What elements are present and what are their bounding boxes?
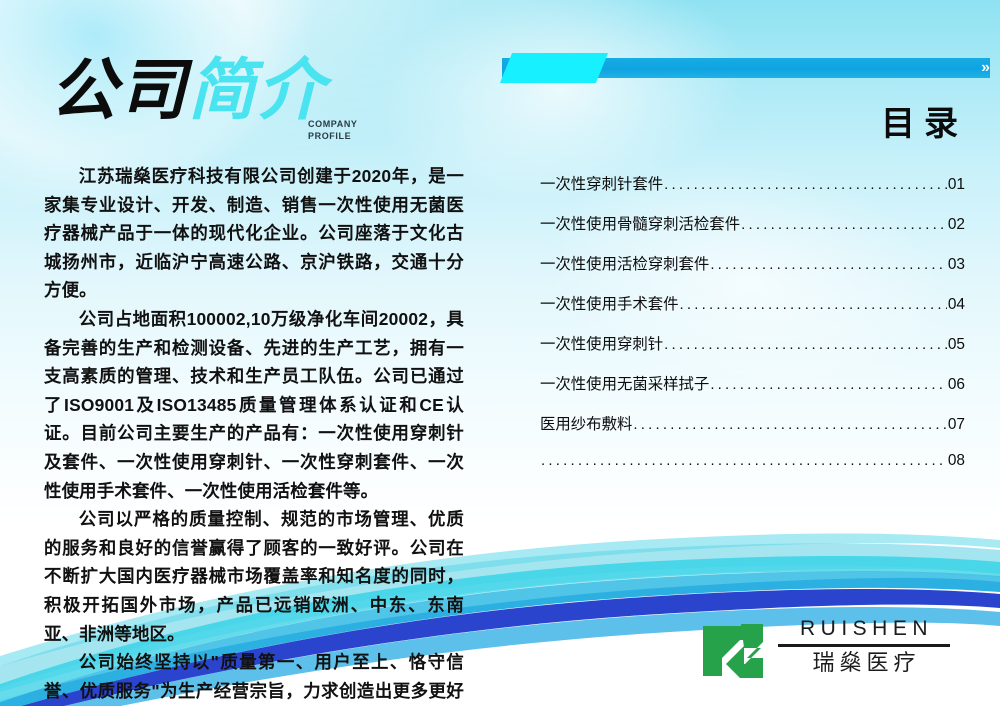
toc-entry-page: 04 <box>948 296 965 314</box>
toc-entry-label: 医用纱布敷料 <box>540 412 632 434</box>
toc-leader-dots: ........................................… <box>664 176 947 193</box>
double-chevron-right-icon: » <box>981 59 988 77</box>
toc-entry-label: 一次性使用手术套件 <box>540 292 679 314</box>
toc-entry[interactable]: 医用纱布敷料 .................................… <box>540 412 965 452</box>
toc-entry-page: 01 <box>948 176 965 194</box>
toc-entry-label: 一次性使用活检穿刺套件 <box>540 252 709 274</box>
toc-entry[interactable]: 一次性使用穿刺针 ...............................… <box>540 332 965 372</box>
toc-list: 一次性穿刺针套件 ...............................… <box>540 172 965 492</box>
toc-entry-label: 一次性使用穿刺针 <box>540 332 663 354</box>
title-english: COMPANY PROFILE <box>308 118 358 142</box>
ruishen-rs-mark-icon <box>700 620 766 682</box>
toc-entry-page: 07 <box>948 416 965 434</box>
toc-entry-page: 06 <box>948 376 965 394</box>
title-chinese: 公司简介 <box>50 56 450 123</box>
toc-leader-dots: ........................................… <box>664 336 947 353</box>
profile-paragraph: 公司始终坚持以"质量第一、用户至上、恪守信誉、优质服务"为生产经营宗旨，力求创造… <box>44 648 464 706</box>
toc-entry[interactable]: 一次性穿刺针套件 ...............................… <box>540 172 965 212</box>
toc-entry[interactable]: 一次性使用手术套件 ..............................… <box>540 292 965 332</box>
toc-leader-dots: ........................................… <box>710 256 947 273</box>
toc-leader-dots: ........................................… <box>633 416 947 433</box>
toc-entry-page: 02 <box>948 216 965 234</box>
toc-entry-label: 一次性穿刺针套件 <box>540 172 663 194</box>
profile-paragraph: 公司以严格的质量控制、规范的市场管理、优质的服务和良好的信誉赢得了顾客的一致好评… <box>44 505 464 648</box>
left-page: 公司简介 COMPANY PROFILE 江苏瑞燊医疗科技有限公司创建于2020… <box>0 0 500 706</box>
title-english-line2: PROFILE <box>308 130 358 142</box>
toc-entry[interactable]: 一次性使用活检穿刺套件 ............................… <box>540 252 965 292</box>
title-chinese-dark: 公司 <box>50 50 188 129</box>
right-page: » 目录 一次性穿刺针套件 ..........................… <box>500 0 1000 706</box>
toc-entry[interactable]: 一次性使用无菌采样拭子 ............................… <box>540 372 965 412</box>
toc-entry-page: 08 <box>948 452 965 470</box>
toc-leader-dots: ........................................… <box>680 296 947 313</box>
toc-entry-page: 05 <box>948 336 965 354</box>
company-profile-body: 江苏瑞燊医疗科技有限公司创建于2020年，是一家集专业设计、开发、制造、销售一次… <box>44 162 464 706</box>
toc-header-bar-accent <box>500 53 608 83</box>
company-logo: RUISHEN 瑞燊医疗 <box>700 616 950 690</box>
profile-paragraph: 江苏瑞燊医疗科技有限公司创建于2020年，是一家集专业设计、开发、制造、销售一次… <box>44 162 464 305</box>
toc-leader-dots: ........................................… <box>741 216 947 233</box>
toc-entry-label: 一次性使用骨髓穿刺活检套件 <box>540 212 740 234</box>
logo-name-en: RUISHEN <box>778 616 950 642</box>
logo-wordmark: RUISHEN 瑞燊医疗 <box>778 616 950 678</box>
toc-leader-dots: ........................................… <box>541 452 947 469</box>
logo-name-cn: 瑞燊医疗 <box>778 650 950 678</box>
logo-divider <box>778 644 950 647</box>
toc-leader-dots: ........................................… <box>710 376 947 393</box>
toc-entry[interactable]: ........................................… <box>540 452 965 492</box>
toc-title: 目录 <box>881 105 967 143</box>
profile-paragraph: 公司占地面积100002,10万级净化车间20002，具备完善的生产和检测设备、… <box>44 305 464 505</box>
toc-entry[interactable]: 一次性使用骨髓穿刺活检套件 ..........................… <box>540 212 965 252</box>
page-title: 公司简介 COMPANY PROFILE <box>50 56 450 146</box>
title-chinese-cyan: 简介 <box>188 50 326 129</box>
toc-entry-page: 03 <box>948 256 965 274</box>
brochure-spread: 公司简介 COMPANY PROFILE 江苏瑞燊医疗科技有限公司创建于2020… <box>0 0 1000 706</box>
toc-entry-label: 一次性使用无菌采样拭子 <box>540 372 709 394</box>
title-english-line1: COMPANY <box>308 118 358 130</box>
